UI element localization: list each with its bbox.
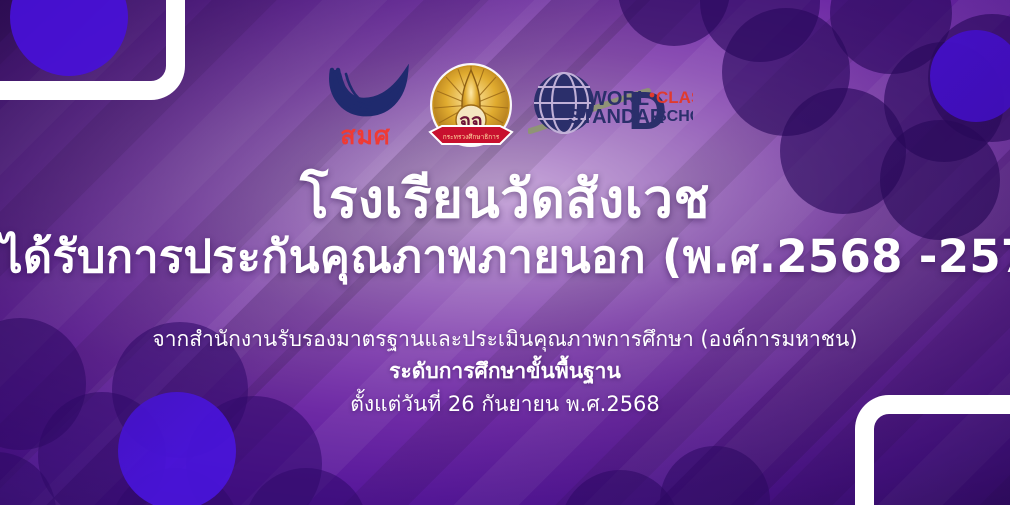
subtext-line-1: จากสำนักงานรับรองมาตรฐานและประเมินคุณภาพ…: [0, 323, 1010, 356]
onesqa-wordmark: สมศ: [318, 123, 414, 148]
world-class-standard-school-logo: D WORL CLASS STANDAR SCHOOL: [528, 69, 693, 143]
subtext-block: จากสำนักงานรับรองมาตรฐานและประเมินคุณภาพ…: [0, 323, 1010, 421]
onesqa-logo: สมศ: [318, 64, 414, 148]
headline-block: โรงเรียนวัดสังเวช ได้รับการประกันคุณภาพภ…: [0, 172, 1010, 283]
ministry-of-education-emblem: จจ กระทรวงศึกษาธิการ: [428, 60, 514, 152]
wcs-word-class: CLASS: [656, 88, 693, 107]
wcs-word-school: SCHOOL: [656, 108, 693, 125]
globe-icon: D WORL CLASS STANDAR SCHOOL: [528, 69, 693, 145]
moe-ribbon-text: กระทรวงศึกษาธิการ: [442, 133, 499, 141]
wcs-dot: [649, 93, 654, 98]
onesqa-swoosh-icon: [322, 64, 410, 124]
headline-line-2: ได้รับการประกันคุณภาพภายนอก (พ.ศ.2568 -2…: [0, 232, 1010, 282]
wcs-word-standard: STANDAR: [568, 106, 665, 128]
subtext-line-3: ตั้งแต่วันที่ 26 กันยายน พ.ศ.2568: [0, 388, 1010, 421]
subtext-line-2: ระดับการศึกษาขั้นพื้นฐาน: [0, 355, 1010, 388]
banner-content: สมศ: [0, 0, 1010, 505]
accreditation-banner: สมศ: [0, 0, 1010, 505]
sema-dhammachakra-icon: จจ กระทรวงศึกษาธิการ: [428, 60, 514, 152]
headline-line-1: โรงเรียนวัดสังเวช: [0, 172, 1010, 228]
logo-row: สมศ: [318, 58, 693, 154]
